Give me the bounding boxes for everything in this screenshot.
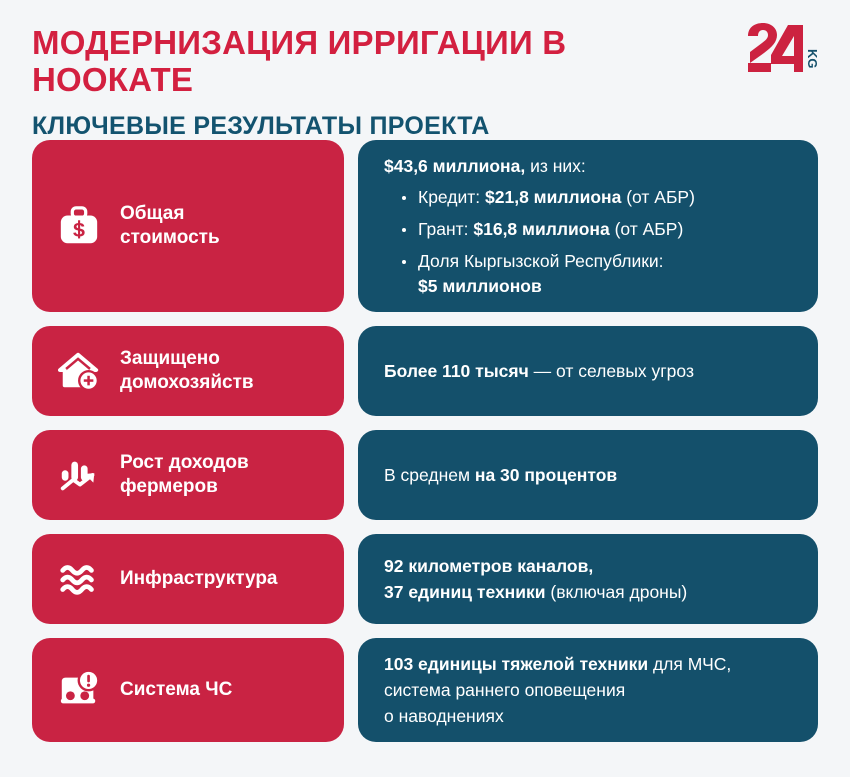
list-item: Грант: $16,8 миллиона (от АБР) xyxy=(402,217,695,242)
label-line-1: Рост доходов xyxy=(120,451,249,475)
house-plus-icon xyxy=(56,348,102,394)
page-subtitle: КЛЮЧЕВЫЕ РЕЗУЛЬТАТЫ ПРОЕКТА xyxy=(32,112,818,141)
label-line-2: домохозяйств xyxy=(120,371,254,395)
list-item: Доля Кыргызской Республики:$5 миллионов xyxy=(402,249,695,299)
emerg-line2: система раннего оповещения xyxy=(384,677,731,703)
category-card-infrastructure: Инфраструктура xyxy=(32,534,344,624)
detail-text-income: В среднем на 30 процентов xyxy=(384,462,617,488)
label-line-1: Инфраструктура xyxy=(120,567,278,591)
households-bold: Более 110 тысяч xyxy=(384,361,529,381)
result-row-cost: S Общая стоимость $43,6 миллиона, из них… xyxy=(32,140,818,312)
infra-line2: 37 единиц техники (включая дроны) xyxy=(384,579,687,605)
category-label-cost: Общая стоимость xyxy=(120,202,220,250)
detail-card-infrastructure: 92 километров каналов, 37 единиц техники… xyxy=(358,534,818,624)
water-waves-icon xyxy=(56,556,102,602)
detail-text-households: Более 110 тысяч — от селевых угроз xyxy=(384,358,694,384)
brand-logo: KG xyxy=(738,22,820,78)
income-bold: на 30 процентов xyxy=(475,465,617,485)
result-row-emergency: Система ЧС 103 единицы тяжелой техники д… xyxy=(32,638,818,742)
infographic-page: МОДЕРНИЗАЦИЯ ИРРИГАЦИИ В НООКАТЕ КЛЮЧЕВЫ… xyxy=(0,0,850,777)
label-line-1: Система ЧС xyxy=(120,678,232,702)
category-label-households: Защищено домохозяйств xyxy=(120,347,254,395)
result-row-infrastructure: Инфраструктура 92 километров каналов, 37… xyxy=(32,534,818,624)
emerg-line1-rest: для МЧС, xyxy=(648,654,731,674)
bullet-post: (от АБР) xyxy=(610,219,684,239)
page-title: МОДЕРНИЗАЦИЯ ИРРИГАЦИИ В НООКАТЕ xyxy=(32,24,692,98)
result-row-households: Защищено домохозяйств Более 110 тысяч — … xyxy=(32,326,818,416)
infra-line2-bold: 37 единиц техники xyxy=(384,582,546,602)
detail-card-households: Более 110 тысяч — от селевых угроз xyxy=(358,326,818,416)
category-card-households: Защищено домохозяйств xyxy=(32,326,344,416)
bullet-pre: Доля Кыргызской Республики: xyxy=(418,249,695,274)
bullet-pre: Кредит: xyxy=(418,187,485,207)
emerg-line3: о наводнениях xyxy=(384,703,731,729)
cost-bullet-list: Кредит: $21,8 миллиона (от АБР) Грант: $… xyxy=(384,185,695,299)
category-label-infrastructure: Инфраструктура xyxy=(120,567,278,591)
cost-lead-bold: $43,6 миллиона, xyxy=(384,156,525,176)
bullet-pre: Грант: xyxy=(418,219,473,239)
category-card-emergency: Система ЧС xyxy=(32,638,344,742)
label-line-1: Защищено xyxy=(120,347,254,371)
detail-card-cost: $43,6 миллиона, из них: Кредит: $21,8 ми… xyxy=(358,140,818,312)
emerg-line1-bold: 103 единицы тяжелой техники xyxy=(384,654,648,674)
bullet-bold: $21,8 миллиона xyxy=(485,187,621,207)
emergency-vehicle-icon xyxy=(56,667,102,713)
result-row-income: Рост доходов фермеров В среднем на 30 пр… xyxy=(32,430,818,520)
header: МОДЕРНИЗАЦИЯ ИРРИГАЦИИ В НООКАТЕ КЛЮЧЕВЫ… xyxy=(0,0,850,140)
bullet-bold: $16,8 миллиона xyxy=(473,219,609,239)
infra-line2-rest: (включая дроны) xyxy=(546,582,688,602)
bullet-post: (от АБР) xyxy=(621,187,695,207)
results-list: S Общая стоимость $43,6 миллиона, из них… xyxy=(0,140,850,742)
growth-chart-icon xyxy=(56,452,102,498)
label-line-2: стоимость xyxy=(120,226,220,250)
emerg-line1: 103 единицы тяжелой техники для МЧС, xyxy=(384,651,731,677)
infra-line1-bold: 92 километров каналов, xyxy=(384,553,687,579)
bullet-bold: $5 миллионов xyxy=(418,274,695,299)
label-line-1: Общая xyxy=(120,202,220,226)
label-line-2: фермеров xyxy=(120,475,249,499)
detail-card-emergency: 103 единицы тяжелой техники для МЧС, сис… xyxy=(358,638,818,742)
detail-card-income: В среднем на 30 процентов xyxy=(358,430,818,520)
category-card-income: Рост доходов фермеров xyxy=(32,430,344,520)
svg-text:KG: KG xyxy=(805,49,820,69)
detail-text-infrastructure: 92 километров каналов, 37 единиц техники… xyxy=(384,553,687,605)
category-card-cost: S Общая стоимость xyxy=(32,140,344,312)
income-pre: В среднем xyxy=(384,465,475,485)
detail-text-emergency: 103 единицы тяжелой техники для МЧС, сис… xyxy=(384,651,731,729)
briefcase-dollar-icon: S xyxy=(56,203,102,249)
households-rest: — от селевых угроз xyxy=(529,361,694,381)
cost-lead: $43,6 миллиона, из них: xyxy=(384,153,695,179)
cost-lead-rest: из них: xyxy=(525,156,586,176)
detail-text-cost: $43,6 миллиона, из них: Кредит: $21,8 ми… xyxy=(384,153,695,299)
category-label-income: Рост доходов фермеров xyxy=(120,451,249,499)
list-item: Кредит: $21,8 миллиона (от АБР) xyxy=(402,185,695,210)
category-label-emergency: Система ЧС xyxy=(120,678,232,702)
